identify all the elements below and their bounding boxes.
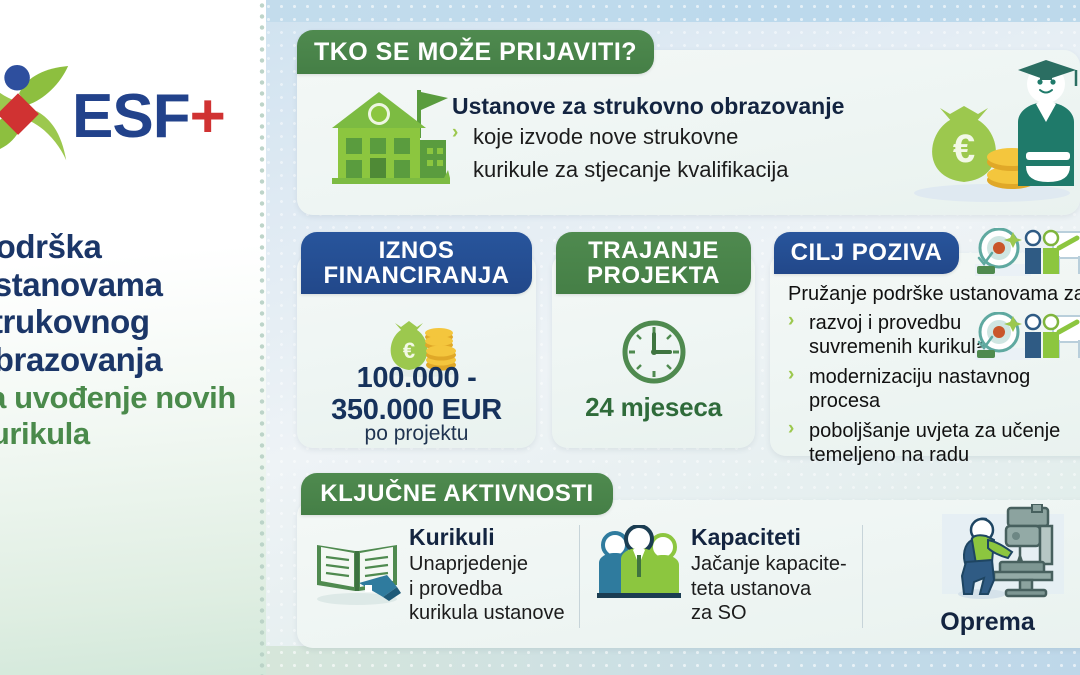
school-building-icon [324, 82, 450, 190]
objective-bullet-1-text-2: suvremenih kurikula [809, 335, 987, 359]
esf-pinwheel-icon [0, 62, 76, 172]
funding-amount-line1: 100.000 - [297, 362, 536, 394]
target-presentation-icon-bottom [975, 312, 1080, 364]
logo-text: ESF [72, 82, 190, 151]
esf-logo: ESF+ [0, 62, 238, 182]
objective-bullet-2: › modernizaciju nastavnog [788, 365, 1080, 389]
eligibility-card-header: TKO SE MOŽE PRIJAVITI? [297, 30, 654, 74]
chevron-bullet-icon: › [788, 419, 802, 438]
objective-card-header: CILJ POZIVA [774, 232, 959, 274]
chevron-bullet-icon: › [788, 311, 802, 330]
objective-bullet-3-text-2: temeljeno na radu [809, 443, 969, 467]
objective-bullet-3: › poboljšanje uvjeta za učenje [788, 419, 1080, 443]
objective-bullet-2-cont: › procesa [788, 389, 1080, 413]
open-book-pen-icon [313, 525, 401, 607]
activities-card-header: KLJUČNE AKTIVNOSTI [301, 473, 613, 515]
activity-title-kapaciteti: Kapaciteti [691, 525, 847, 550]
eligibility-card-body: Ustanove za strukovno obrazovanje › koje… [452, 93, 882, 184]
funding-header-line2: FINANCIRANJA [324, 263, 510, 288]
funding-amount: 100.000 - 350.000 EUR [297, 362, 536, 427]
clock-icon [620, 318, 688, 386]
activity-title-kurikuli: Kurikuli [409, 525, 565, 550]
page-title-main: Podrška ustanovama strukovnog obrazovanj… [0, 228, 274, 378]
activity-text-kurikuli: Kurikuli Unaprjedenje i provedba kurikul… [409, 525, 565, 625]
graduate-with-money-bag-illustration: € [900, 60, 1080, 205]
duration-value: 24 mjeseca [552, 392, 755, 423]
objective-card-body: Pružanje podrške ustanovama za › razvoj … [788, 282, 1080, 467]
activities-divider-2 [862, 525, 863, 628]
page-title: Podrška ustanovama strukovnog obrazovanj… [0, 228, 274, 451]
objective-bullet-2-text-2: procesa [809, 389, 880, 413]
activity-desc-kapaciteti: Jačanje kapacite- teta ustanova za SO [691, 552, 847, 625]
duration-card-header: TRAJANJE PROJEKTA [556, 232, 751, 294]
objective-bullet-1-text: razvoj i provedbu [809, 311, 961, 335]
svg-text:€: € [403, 338, 415, 363]
infographic-canvas: ESF+ Podrška ustanovama strukovnog obraz… [0, 0, 1080, 675]
bottom-band-dot-pattern [262, 646, 1080, 675]
objective-bullet-3-cont: › temeljeno na radu [788, 443, 1080, 467]
objective-intro: Pružanje podrške ustanovama za [788, 282, 1080, 306]
target-presentation-icon-top [975, 228, 1080, 280]
svg-text:€: € [953, 127, 975, 171]
eligibility-bullet-2-text: kurikule za stjecanje kvalifikacija [473, 156, 788, 184]
eligibility-bullet-1-text: koje izvode nove strukovne [473, 123, 738, 151]
chevron-bullet-icon: › [452, 123, 466, 142]
activity-item-kurikuli: Kurikuli Unaprjedenje i provedba kurikul… [313, 525, 565, 625]
bottom-band [262, 646, 1080, 675]
three-people-icon [595, 525, 683, 607]
eligibility-heading: Ustanove za strukovno obrazovanje [452, 93, 882, 119]
activity-desc-kurikuli: Unaprjedenje i provedba kurikula ustanov… [409, 552, 565, 625]
page-subtitle: za uvođenje novih kurikula [0, 380, 274, 451]
eligibility-bullet-2: › kurikule za stjecanje kvalifikacija [452, 156, 882, 184]
objective-bullet-3-text: poboljšanje uvjeta za učenje [809, 419, 1060, 443]
activities-divider-1 [579, 525, 580, 628]
activity-text-kapaciteti: Kapaciteti Jačanje kapacite- teta ustano… [691, 525, 847, 625]
funding-header-line1: IZNOS [379, 238, 455, 263]
duration-header-line1: TRAJANJE [588, 238, 719, 263]
activity-item-kapaciteti: Kapaciteti Jačanje kapacite- teta ustano… [595, 525, 847, 625]
chevron-bullet-icon: › [788, 365, 802, 384]
duration-header-line2: PROJEKTA [587, 263, 720, 288]
worker-drill-press-icon [942, 504, 1064, 608]
activity-title-oprema: Oprema [880, 608, 1080, 637]
funding-card-header: IZNOS FINANCIRANJA [301, 232, 532, 294]
top-band [262, 0, 1080, 22]
logo-plus: + [190, 82, 225, 151]
eligibility-bullet-1: › koje izvode nove strukovne [452, 123, 882, 151]
funding-note: po projektu [297, 422, 536, 446]
top-band-dot-pattern [262, 0, 1080, 22]
objective-bullet-2-text: modernizaciju nastavnog [809, 365, 1030, 389]
logo-wordmark: ESF+ [72, 86, 225, 148]
